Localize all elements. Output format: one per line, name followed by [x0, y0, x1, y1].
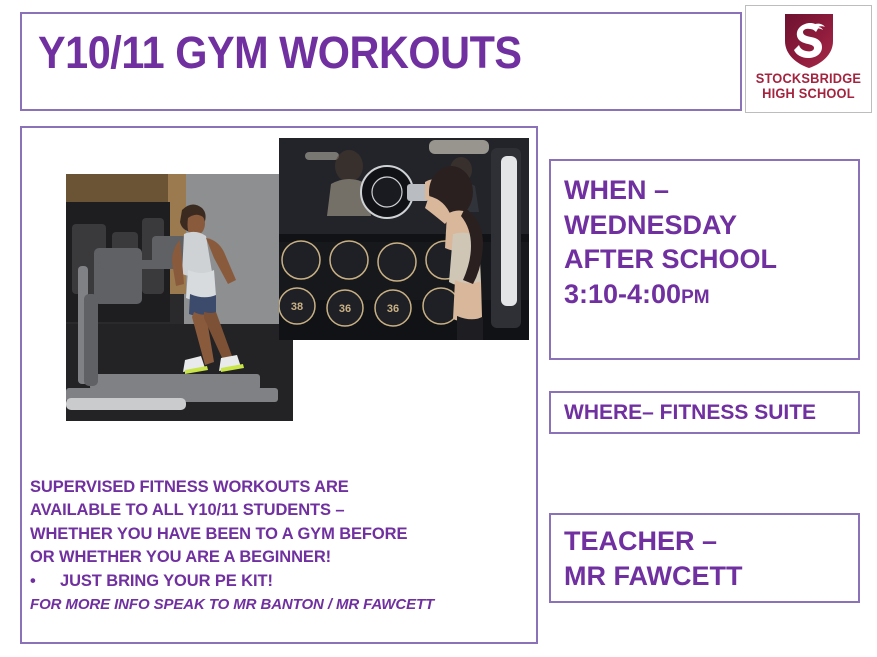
when-line-1: WHEN – — [564, 173, 858, 208]
poster-canvas: Y10/11 GYM WORKOUTS STOCKSBRIDGE HIGH SC… — [0, 0, 877, 657]
svg-text:36: 36 — [387, 303, 399, 315]
teacher-line-1: TEACHER – — [564, 524, 858, 559]
body-line: SUPERVISED FITNESS WORKOUTS ARE — [30, 476, 530, 499]
treadmill-photo — [66, 174, 293, 421]
body-line: AVAILABLE TO ALL Y10/11 STUDENTS – — [30, 499, 530, 522]
bullet-list-item: • JUST BRING YOUR PE KIT! — [30, 570, 530, 593]
school-logo-box: STOCKSBRIDGE HIGH SCHOOL — [745, 5, 872, 113]
shield-s-crest-icon — [781, 11, 837, 69]
teacher-info-box: TEACHER – MR FAWCETT — [549, 513, 860, 603]
dumbbell-photo: 38 36 36 — [279, 138, 529, 340]
body-line: WHETHER YOU HAVE BEEN TO A GYM BEFORE — [30, 523, 530, 546]
when-time: 3:10-4:00 — [564, 279, 681, 309]
teacher-line-2: MR FAWCETT — [564, 559, 858, 594]
when-info-box: WHEN – WEDNESDAY AFTER SCHOOL 3:10-4:00P… — [549, 159, 860, 360]
bullet-dot-icon: • — [30, 570, 60, 593]
bullet-item-label: JUST BRING YOUR PE KIT! — [60, 570, 273, 593]
when-line-2: WEDNESDAY — [564, 208, 858, 243]
school-name-line-2: HIGH SCHOOL — [756, 86, 861, 101]
body-text-block: SUPERVISED FITNESS WORKOUTS ARE AVAILABL… — [30, 476, 530, 615]
body-line: OR WHETHER YOU ARE A BEGINNER! — [30, 546, 530, 569]
school-name-line-1: STOCKSBRIDGE — [756, 71, 861, 86]
where-text: WHERE– FITNESS SUITE — [564, 401, 816, 425]
header-title-box: Y10/11 GYM WORKOUTS — [20, 12, 742, 111]
footnote-text: FOR MORE INFO SPEAK TO MR BANTON / MR FA… — [30, 594, 530, 615]
where-info-box: WHERE– FITNESS SUITE — [549, 391, 860, 434]
when-time-line: 3:10-4:00PM — [564, 277, 858, 312]
school-name: STOCKSBRIDGE HIGH SCHOOL — [756, 71, 861, 101]
page-title: Y10/11 GYM WORKOUTS — [38, 30, 522, 75]
svg-text:38: 38 — [291, 301, 303, 313]
left-content-panel: 38 36 36 — [20, 126, 538, 644]
when-time-suffix: PM — [681, 287, 710, 308]
svg-text:36: 36 — [339, 303, 351, 315]
when-line-3: AFTER SCHOOL — [564, 242, 858, 277]
